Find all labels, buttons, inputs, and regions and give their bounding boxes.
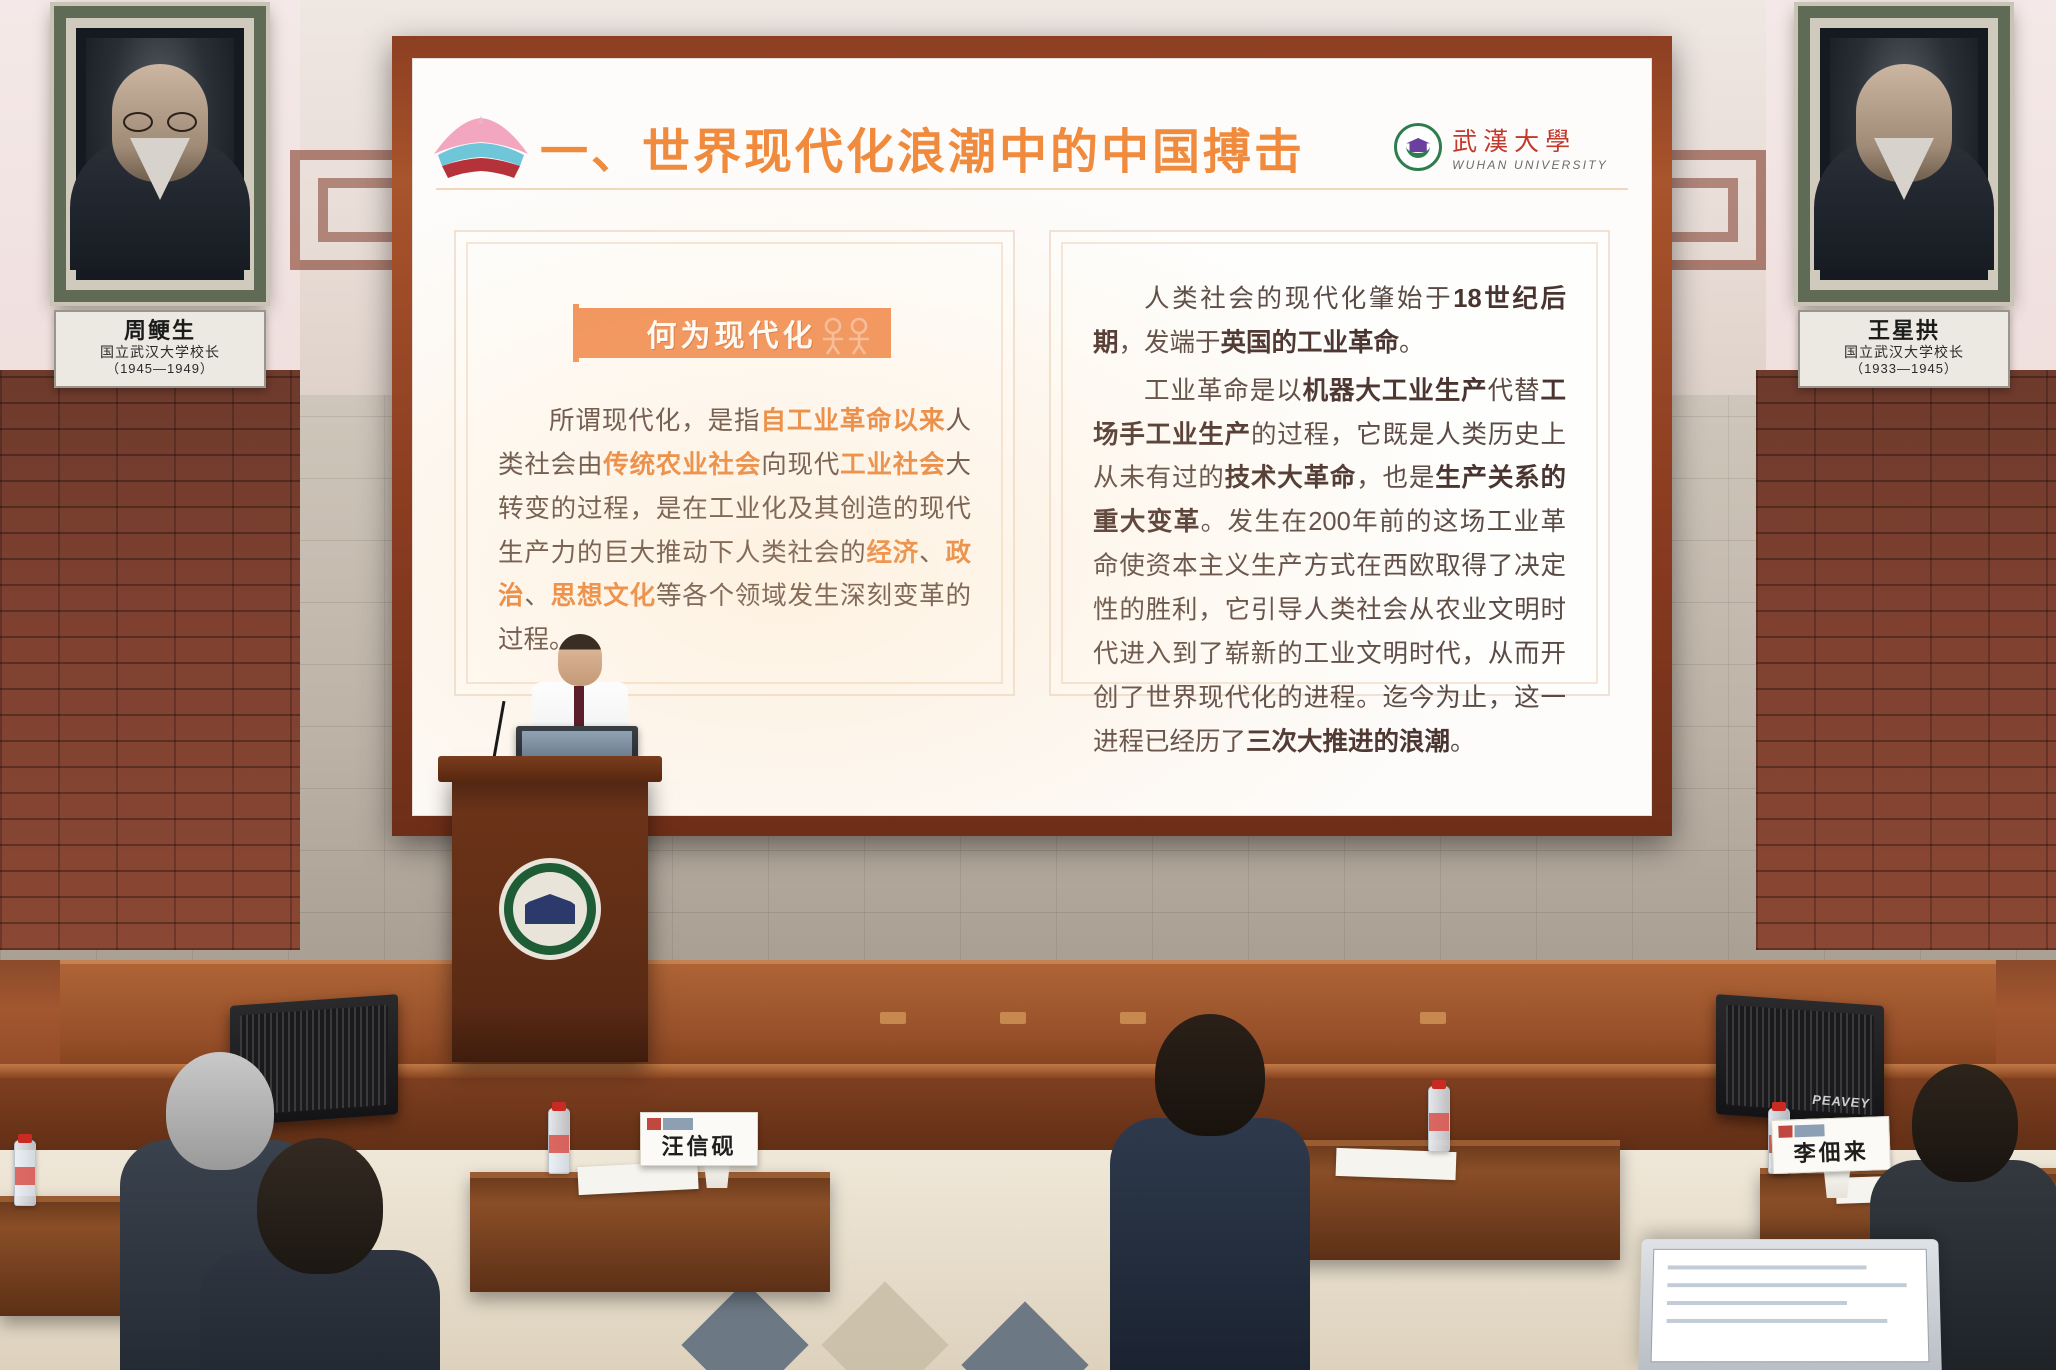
chinese-roof-icon [428,114,534,182]
floor-tile [961,1301,1088,1370]
wuhan-university-seal-icon [499,858,601,960]
brick-column-left [0,370,300,950]
slide-header: 一、世界现代化浪潮中的中国搏击 武漢大學 WUHAN UNIVERSITY [412,106,1652,190]
portrait-role: 国立武汉大学校长 [1804,343,2004,361]
audience-head [257,1138,383,1274]
panel-banner: 何为现代化 [573,308,897,366]
pa-speaker-right: PEAVEY [1716,994,1884,1126]
panel-what-is-modernization: 何为现代化 [454,230,1015,696]
nameplate-right: 王星拱 国立武汉大学校长 （1933—1945） [1798,310,2010,388]
stage-marker [1420,1012,1446,1024]
banner-label: 何为现代化 [647,311,817,355]
portrait-name: 王星拱 [1804,318,2004,343]
glasses-icon [123,112,197,132]
name-card-logo-icon [1778,1124,1824,1138]
right-panel-paragraph-1: 人类社会的现代化肇始于18世纪后期，发端于英国的工业革命。 [1093,278,1566,366]
portrait-frame-left [54,6,266,302]
slide-content-panels: 何为现代化 [454,230,1610,696]
audience-head [1912,1064,2018,1182]
lectern-top [438,756,662,782]
lectern [452,772,648,1062]
people-group-icon [815,316,877,356]
seal-building-icon [525,894,575,924]
audience-head [1155,1014,1265,1136]
portrait-frame-right [1798,6,2010,302]
logo-english-text: WUHAN UNIVERSITY [1452,158,1608,172]
portrait-mat [1810,18,1998,290]
panel-industrial-revolution: 人类社会的现代化肇始于18世纪后期，发端于英国的工业革命。 工业革命是以机器大工… [1049,230,1610,696]
foreground-laptop[interactable] [1638,1239,1941,1370]
portrait-years: （1945—1949） [60,361,260,378]
banner-box: 何为现代化 [573,308,891,358]
name-card-text: 李佃来 [1793,1134,1869,1169]
document-paper [1336,1148,1457,1180]
portrait-image [1830,38,1978,270]
stage-marker [880,1012,906,1024]
brick-column-right [1756,370,2056,950]
panel-inner: 何为现代化 [466,242,1003,684]
water-bottle [14,1140,36,1206]
portrait-mat [66,18,254,290]
wuhan-university-logo: 武漢大學 WUHAN UNIVERSITY [1394,122,1608,172]
presenter-head [558,634,602,686]
left-panel-paragraph: 所谓现代化，是指自工业革命以来人类社会由传统农业社会向现代工业社会大转变的过程，… [498,400,971,663]
right-panel-paragraph-2: 工业革命是以机器大工业生产代替工场手工业生产的过程，它既是人类历史上从未有过的技… [1093,370,1566,765]
water-bottle [548,1108,570,1174]
wuhan-university-seal-icon [1394,123,1442,171]
logo-chinese-text: 武漢大學 [1452,122,1608,158]
portrait-years: （1933—1945） [1804,361,2004,378]
foreground-laptop-screen [1651,1249,1930,1362]
audience-member [200,1130,440,1370]
portrait-name: 周鲠生 [60,318,260,343]
panel-inner: 人类社会的现代化肇始于18世纪后期，发端于英国的工业革命。 工业革命是以机器大工… [1061,242,1598,684]
name-card: 汪信砚 [640,1112,758,1166]
name-card-text: 汪信砚 [661,1129,736,1161]
water-bottle [1428,1086,1450,1152]
title-divider [436,188,1628,190]
seal-inner [513,872,587,946]
slide-title: 一、世界现代化浪潮中的中国搏击 [540,112,1305,182]
lecture-hall-photo: 周鲠生 国立武汉大学校长 （1945—1949） 王星拱 国立武汉大学校长 （1… [0,0,2056,1370]
portrait-role: 国立武汉大学校长 [60,343,260,361]
floor-tile [681,1281,808,1370]
audience-member [1110,1000,1310,1370]
floor-tile [821,1281,948,1370]
name-card-logo-icon [647,1118,693,1130]
nameplate-left: 周鲠生 国立武汉大学校长 （1945—1949） [54,310,266,388]
portrait-image [86,38,234,270]
audience-body [1110,1118,1310,1370]
stage-marker [1000,1012,1026,1024]
